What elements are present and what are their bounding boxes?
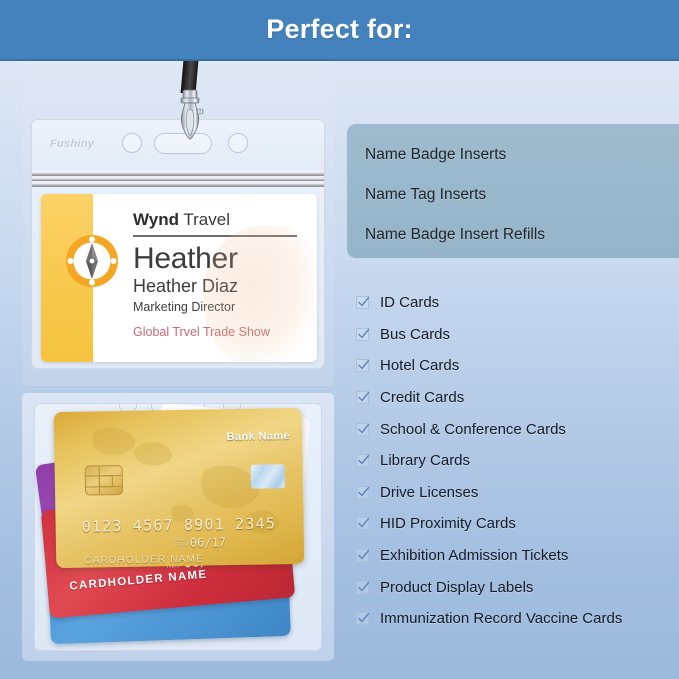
highlight-box: Name Badge Inserts Name Tag Inserts Name…: [347, 124, 679, 258]
list-item: HID Proximity Cards: [352, 508, 679, 540]
card-red-cardholder: CARDHOLDER NAME: [69, 569, 208, 593]
badge-holder-sleeve: Fushiny: [31, 119, 325, 369]
badge-holder-photo: Fushiny: [22, 61, 334, 386]
list-item-label: Immunization Record Vaccine Cards: [380, 610, 622, 627]
page-title: Perfect for:: [266, 14, 412, 45]
list-item: Exhibition Admission Tickets: [352, 540, 679, 572]
list-item-label: ID Cards: [380, 294, 439, 311]
list-item: Bus Cards: [352, 319, 679, 351]
insert-event-name: Global Trvel Trade Show: [133, 325, 313, 339]
zipper-line-1: [32, 172, 324, 176]
zipper-line-3: [32, 183, 324, 187]
insert-brand-rest: Travel: [179, 210, 230, 229]
list-item-label: Product Display Labels: [380, 579, 533, 596]
insert-full-name: Heather Diaz: [133, 276, 313, 297]
page-header: Perfect for:: [0, 0, 679, 61]
insert-job-title: Marketing Director: [133, 300, 313, 314]
insert-divider: [133, 235, 297, 237]
punch-hole-right: [228, 133, 248, 153]
lanyard-clip-icon: [168, 88, 212, 148]
check-icon: [356, 549, 369, 562]
name-badge-insert: Wynd Travel Heather Heather Diaz Marketi…: [41, 194, 317, 362]
list-item: Hotel Cards: [352, 350, 679, 382]
highlight-item: Name Badge Inserts: [365, 146, 679, 164]
list-item: School & Conference Cards: [352, 413, 679, 445]
card-gold-cardholder: CARDHOLDER NAME: [84, 554, 204, 567]
list-item-label: Exhibition Admission Tickets: [380, 547, 568, 564]
card-gold: Bank Name 0123 4567 8901 2345 VALIDTHRU …: [54, 408, 305, 568]
card-hologram-icon: [251, 464, 285, 489]
check-icon: [356, 486, 369, 499]
punch-hole-left: [122, 133, 142, 153]
zipper-line-2: [32, 178, 324, 181]
card-chip-icon: [85, 465, 124, 496]
left-image-column: Fushiny: [22, 61, 334, 661]
check-icon: [356, 581, 369, 594]
check-icon: [356, 612, 369, 625]
list-item: Immunization Record Vaccine Cards: [352, 603, 679, 635]
list-item-label: Hotel Cards: [380, 357, 459, 374]
list-item-label: HID Proximity Cards: [380, 515, 516, 532]
highlight-item: Name Badge Insert Refills: [365, 226, 679, 244]
credit-cards-photo: CARDHOLDER NAME 2345 VALIDTHRU 06/17 CAR…: [22, 393, 334, 661]
list-item: Drive Licenses: [352, 477, 679, 509]
check-icon: [356, 328, 369, 341]
checklist: ID Cards Bus Cards Hotel Cards Credit Ca…: [352, 287, 679, 635]
card-gold-number: 0123 4567 8901 2345: [82, 514, 277, 535]
right-text-column: Name Badge Inserts Name Tag Inserts Name…: [347, 61, 679, 661]
check-icon: [356, 296, 369, 309]
list-item: ID Cards: [352, 287, 679, 319]
check-icon: [356, 391, 369, 404]
insert-brand: Wynd Travel: [133, 210, 313, 230]
insert-first-name: Heather: [133, 243, 313, 275]
insert-text-block: Wynd Travel Heather Heather Diaz Marketi…: [133, 210, 313, 339]
list-item-label: Library Cards: [380, 452, 470, 469]
compass-logo-icon: [63, 232, 121, 290]
list-item: Product Display Labels: [352, 571, 679, 603]
list-item-label: Bus Cards: [380, 326, 450, 343]
holder-brand-emboss: Fushiny: [50, 138, 94, 150]
highlight-item: Name Tag Inserts: [365, 186, 679, 204]
check-icon: [356, 423, 369, 436]
insert-brand-bold: Wynd: [133, 210, 179, 229]
card-gold-bank-name: Bank Name: [226, 430, 290, 443]
list-item-label: School & Conference Cards: [380, 421, 566, 438]
check-icon: [356, 359, 369, 372]
check-icon: [356, 454, 369, 467]
card-gold-expiry: 06/17: [190, 535, 226, 550]
list-item: Credit Cards: [352, 382, 679, 414]
check-icon: [356, 517, 369, 530]
list-item-label: Credit Cards: [380, 389, 464, 406]
list-item: Library Cards: [352, 445, 679, 477]
list-item-label: Drive Licenses: [380, 484, 478, 501]
cards-holder-sleeve: CARDHOLDER NAME 2345 VALIDTHRU 06/17 CAR…: [34, 403, 322, 651]
card-gold-valid-label: VALIDTHRU: [174, 538, 188, 549]
